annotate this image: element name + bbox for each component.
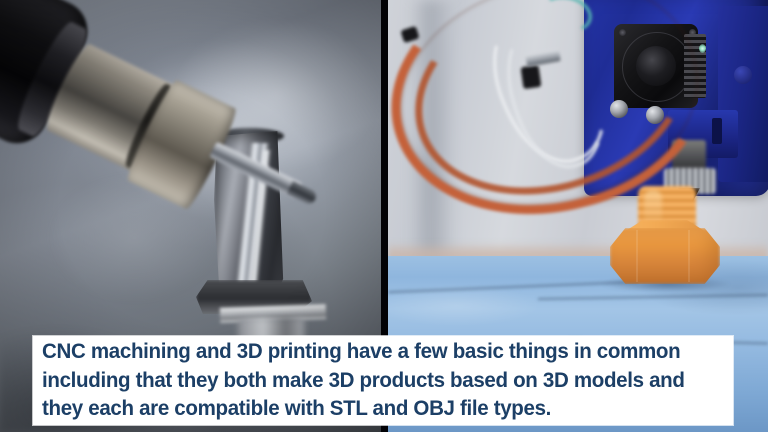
caption-text: CNC machining and 3D printing have a few… (42, 337, 697, 423)
video-frame: CNC machining and 3D printing have a few… (0, 0, 768, 432)
caption-box: CNC machining and 3D printing have a few… (33, 336, 733, 425)
hotend-mount-slot (712, 118, 722, 144)
cable-clip (521, 65, 542, 89)
printed-object-facet-edge (636, 230, 638, 282)
printed-object-facet-edge (688, 230, 690, 282)
carriage-hole (734, 66, 752, 84)
printed-orange-object (610, 228, 720, 284)
